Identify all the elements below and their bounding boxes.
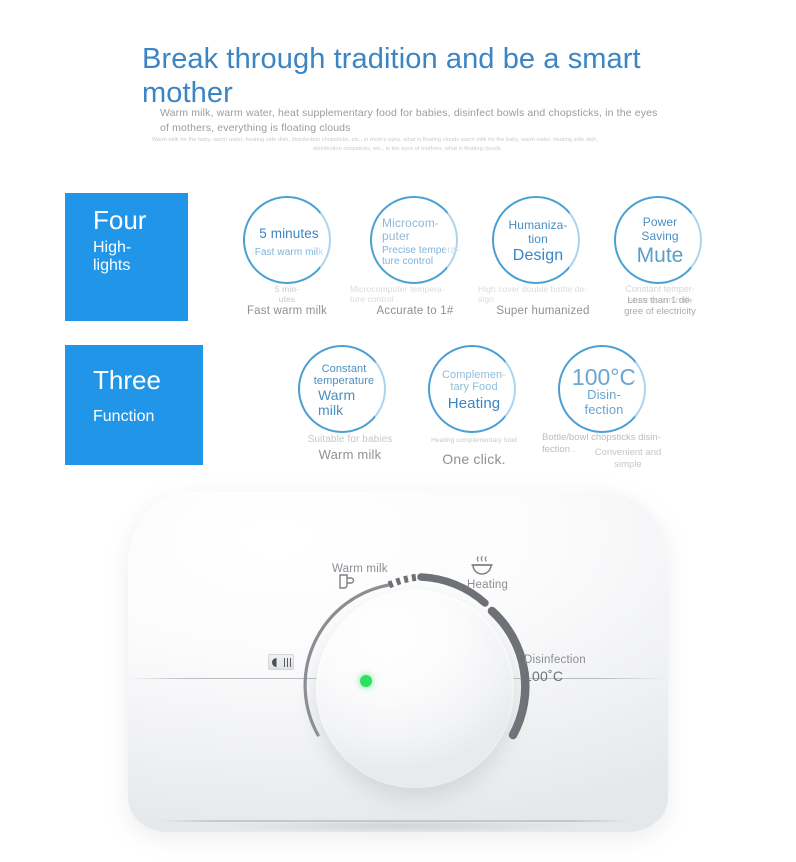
function-1-main: Warm milk (300, 388, 388, 419)
three-function-badge: Three Function (65, 345, 203, 465)
function-circle-1: Constant temperature Warm milk (298, 345, 386, 433)
highlight-2-lead: Microcom- puter (382, 217, 439, 244)
page-fine-print: Warm milk for the baby, warm water, heat… (152, 136, 662, 153)
highlight-circle-2: Microcom- puter Precise tempera- ture co… (370, 196, 458, 284)
highlight-circle-4-content: Power Saving Mute (616, 198, 704, 286)
highlight-1-main: Fast warm milk (255, 247, 324, 258)
highlight-circle-2-content: Microcom- puter Precise tempera- ture co… (372, 198, 460, 286)
function-circle-3-content: 100°C Disin- fection (560, 347, 648, 435)
sticker-bars-icon (284, 658, 292, 667)
function-caption-3: Bottle/bowl chopsticks disin- fection . … (542, 432, 692, 471)
highlight-3-caption-en: Super humanized (478, 305, 608, 319)
dial-label-heating: Heating (467, 578, 508, 592)
product-rating-sticker (268, 654, 294, 670)
function-circle-2-content: Complemen- tary Food Heating (430, 347, 518, 435)
function-caption-2: Heating complementary food One click. (418, 437, 530, 468)
base-edge-line (160, 820, 630, 822)
highlight-3-caption-cn: High cover double bottle de- sign (478, 284, 608, 304)
four-highlights-badge: Four High- lights (65, 193, 188, 321)
power-led-indicator (360, 675, 372, 687)
highlight-circle-3-content: Humaniza- tion Design (494, 198, 582, 286)
function-2-caption-cn: Heating complementary food (418, 437, 530, 445)
dial-label-disinfection: Disinfection 100˚C (524, 653, 586, 686)
function-circle-3: 100°C Disin- fection (558, 345, 646, 433)
highlight-circle-1-content: 5 minutes Fast warm milk (245, 198, 333, 286)
highlight-4-lead: Power Saving (641, 216, 678, 243)
product-photo (0, 470, 796, 862)
highlight-caption-3: High cover double bottle de- sign Super … (478, 284, 608, 319)
fine-print-line-2: disinfection chopsticks, etc., in the ey… (152, 145, 662, 154)
page-title: Break through tradition and be a smart m… (142, 42, 662, 110)
highlight-3-lead: Humaniza- tion (509, 219, 568, 246)
highlight-circle-4: Power Saving Mute (614, 196, 702, 284)
highlight-2-caption-en: Accurate to 1# (350, 305, 480, 319)
function-2-caption-en: One click. (418, 451, 530, 468)
disinfection-temperature: 100˚C (524, 668, 586, 686)
highlight-4-caption-en: Less than 1 de- gree of electricity (604, 295, 716, 318)
highlight-caption-2: Microcomputer tempera- ture control . Ac… (350, 284, 480, 319)
disinfection-text: Disinfection (524, 654, 586, 666)
highlight-caption-4: Constant temper- ature warm milk Less th… (604, 284, 716, 317)
function-caption-1: Suitable for babies Warm milk (290, 434, 410, 463)
heating-bowl-icon (470, 556, 494, 576)
highlight-2-caption-cn: Microcomputer tempera- ture control . (350, 284, 480, 304)
highlight-circle-1: 5 minutes Fast warm milk (243, 196, 331, 284)
base-shadow (148, 822, 648, 838)
highlight-4-main: Mute (637, 244, 684, 268)
warm-milk-icon (337, 573, 357, 591)
highlight-1-caption-en: Fast warm milk (232, 305, 342, 319)
four-highlights-small-label: High- lights (93, 239, 188, 275)
highlight-caption-1: 5 min- utes Fast warm milk (232, 284, 342, 319)
function-2-main: Heating (448, 396, 500, 413)
highlight-3-main: Design (513, 247, 563, 265)
function-1-caption-en: Warm milk (290, 447, 410, 463)
three-function-small-label: Function (93, 408, 203, 426)
control-knob[interactable] (316, 590, 514, 788)
four-highlights-big-label: Four (93, 207, 188, 234)
function-1-caption-cn: Suitable for babies (290, 434, 410, 446)
function-1-lead: Constant temperature (314, 363, 374, 388)
sticker-dial-icon (272, 658, 281, 667)
fine-print-line-1: Warm milk for the baby, warm water, heat… (152, 136, 662, 145)
function-circle-2: Complemen- tary Food Heating (428, 345, 516, 433)
highlight-2-main: Precise tempera- ture control (382, 245, 460, 267)
three-function-big-label: Three (93, 367, 203, 394)
function-3-main: Disin- fection (584, 388, 623, 417)
highlight-circle-3: Humaniza- tion Design (492, 196, 580, 284)
function-circle-1-content: Constant temperature Warm milk (300, 347, 388, 435)
function-2-lead: Complemen- tary Food (442, 369, 506, 394)
highlight-1-lead: 5 minutes (259, 226, 318, 241)
highlight-1-caption-cn: 5 min- utes (232, 284, 342, 304)
page-subtitle: Warm milk, warm water, heat supplementar… (160, 106, 662, 136)
